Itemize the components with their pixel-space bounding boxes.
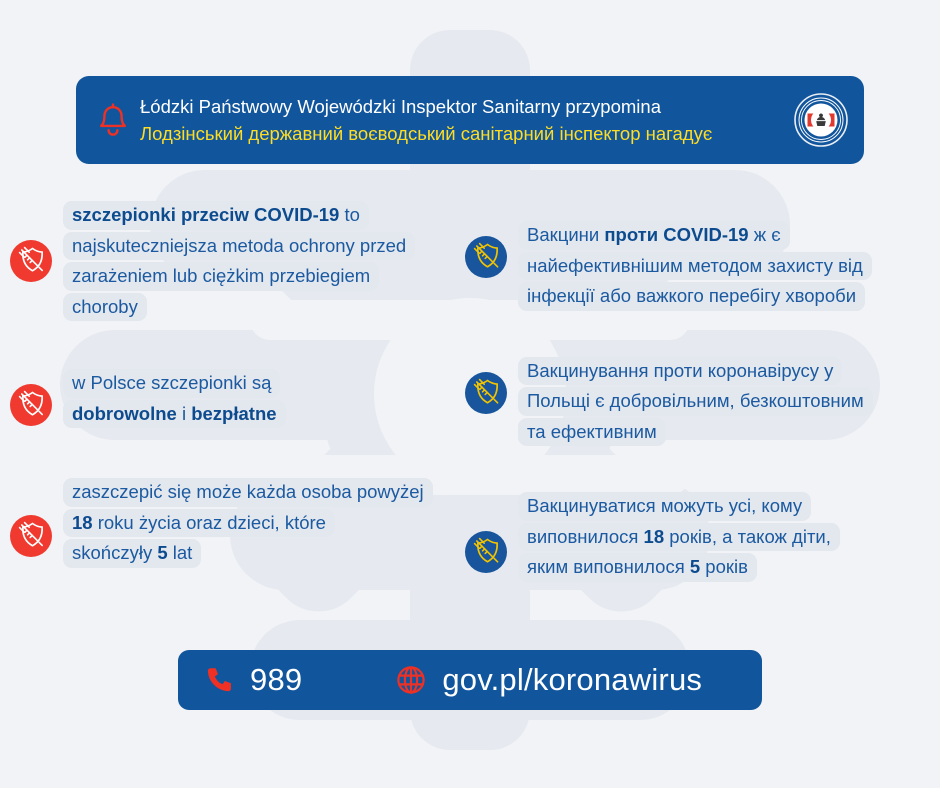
shield-syringe-blue-icon (463, 529, 509, 575)
sanitary-inspectorate-emblem (794, 93, 848, 147)
fact-text: zaszczepić się może każda osoba powyżej1… (63, 477, 470, 569)
fact-row: Вакцинування проти коронавірусу уПольщі … (463, 356, 933, 448)
bell-icon (96, 100, 130, 140)
phone-icon (202, 663, 236, 697)
fact-row: w Polsce szczepionki sądobrowolne i bezp… (8, 368, 470, 429)
header-banner: Łódzki Państwowy Wojewódzki Inspektor Sa… (76, 76, 864, 164)
shield-syringe-blue-icon (463, 370, 509, 416)
fact-text: Вакцинуватися можуть усі, комувиповнилос… (518, 491, 933, 583)
fact-row: szczepionki przeciw COVID-19 tonajskutec… (8, 200, 470, 322)
fact-text: Вакцинування проти коронавірусу уПольщі … (518, 356, 933, 448)
header-text-block: Łódzki Państwowy Wojewódzki Inspektor Sa… (140, 94, 790, 147)
fact-text: w Polsce szczepionki sądobrowolne i bezp… (63, 368, 470, 429)
header-line-ukrainian: Лодзінський державний воєводський саніта… (140, 121, 790, 147)
shield-syringe-red-icon (8, 513, 54, 559)
phone-number: 989 (250, 663, 302, 697)
fact-row: zaszczepić się może każda osoba powyżej1… (8, 477, 470, 569)
header-line-polish: Łódzki Państwowy Wojewódzki Inspektor Sa… (140, 94, 790, 120)
shield-syringe-red-icon (8, 382, 54, 428)
website-link[interactable]: gov.pl/koronawirus (394, 663, 702, 697)
contact-bar: 989 gov.pl/koronawirus (178, 650, 762, 710)
website-url: gov.pl/koronawirus (442, 663, 702, 697)
fact-text: Вакцини проти COVID-19 ж єнайефективніши… (518, 220, 933, 312)
fact-text: szczepionki przeciw COVID-19 tonajskutec… (63, 200, 470, 322)
fact-row: Вакцини проти COVID-19 ж єнайефективніши… (463, 220, 933, 312)
facts-column-ukrainian: Вакцини проти COVID-19 ж єнайефективніши… (463, 196, 933, 601)
globe-icon (394, 663, 428, 697)
shield-syringe-red-icon (8, 238, 54, 284)
shield-syringe-blue-icon (463, 234, 509, 280)
fact-row: Вакцинуватися можуть усі, комувиповнилос… (463, 491, 933, 583)
infographic-page: Łódzki Państwowy Wojewódzki Inspektor Sa… (0, 0, 940, 788)
emergency-phone[interactable]: 989 (202, 663, 302, 697)
facts-column-polish: szczepionki przeciw COVID-19 tonajskutec… (8, 196, 470, 587)
